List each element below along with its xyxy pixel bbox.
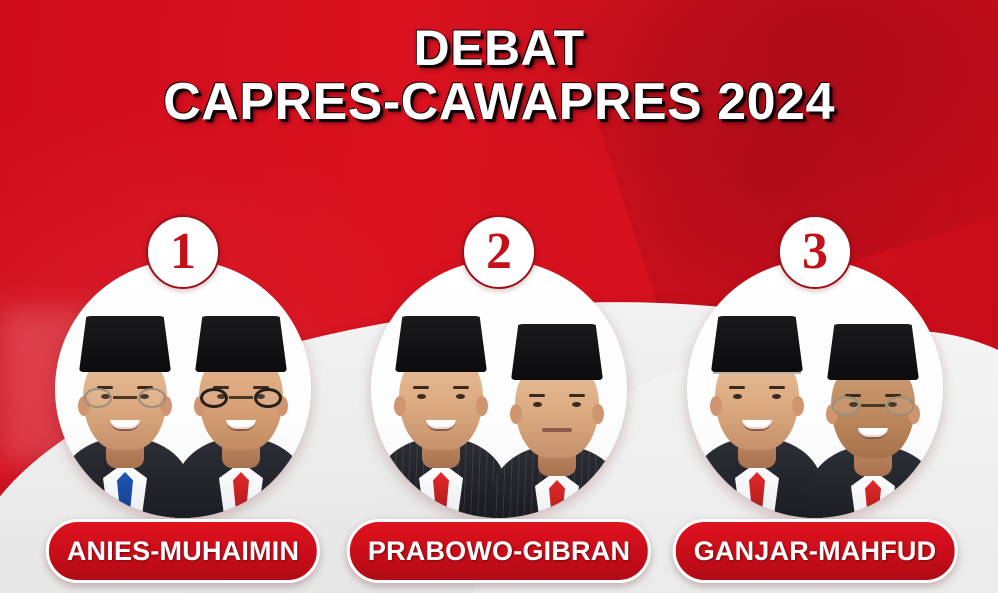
eyebrow-right	[453, 386, 469, 389]
candidate-name-pill-1[interactable]: ANIES-MUHAIMIN	[46, 519, 320, 583]
mouth	[742, 420, 772, 431]
portrait-muhaimin	[175, 314, 307, 518]
peci-cap-icon	[511, 324, 603, 380]
eyebrow-right	[769, 386, 785, 389]
candidate-number-badge-1: 1	[146, 215, 220, 289]
eye-left	[733, 394, 742, 399]
candidate-number-badge-3: 3	[778, 215, 852, 289]
eyebrow-right	[569, 394, 585, 397]
mouth	[542, 428, 572, 432]
peci-cap-icon	[395, 316, 487, 372]
portrait-ganjar	[691, 314, 823, 518]
eye-right	[456, 394, 465, 399]
candidate-name-label-2: PRABOWO-GIBRAN	[368, 536, 630, 567]
title-line-2: CAPRES-CAWAPRES 2024	[0, 75, 998, 130]
title-line-1: DEBAT	[0, 22, 998, 75]
ear-left	[510, 404, 522, 424]
eyebrow-left	[529, 394, 545, 397]
mouth	[426, 420, 456, 431]
ear-right	[792, 396, 804, 416]
page-title: DEBAT CAPRES-CAWAPRES 2024	[0, 22, 998, 130]
ear-left	[394, 396, 406, 416]
candidate-photo-2	[371, 260, 627, 518]
eye-right	[572, 402, 581, 407]
peci-cap-icon	[827, 324, 919, 380]
ear-right	[476, 396, 488, 416]
eyeglasses-icon	[84, 388, 166, 408]
portrait-gibran	[491, 322, 623, 518]
candidate-photo-3	[687, 260, 943, 518]
peci-cap-icon	[195, 316, 287, 372]
candidate-card-2[interactable]: 2 PRABOWO-GIBRAN	[349, 215, 649, 575]
candidate-number-badge-2: 2	[462, 215, 536, 289]
eyeglasses-icon	[832, 396, 914, 416]
eye-right	[772, 394, 781, 399]
portrait-anies	[59, 314, 191, 518]
ear-left	[710, 396, 722, 416]
portrait-mahfud	[807, 322, 939, 518]
eye-left	[533, 402, 542, 407]
candidate-card-3[interactable]: 3 GANJAR-MAHFUD	[665, 215, 965, 575]
candidate-name-pill-3[interactable]: GANJAR-MAHFUD	[673, 519, 958, 583]
peci-cap-icon	[711, 316, 803, 372]
candidate-card-1[interactable]: 1 ANIES-MUHAIMIN	[33, 215, 333, 575]
candidate-name-label-1: ANIES-MUHAIMIN	[67, 536, 299, 567]
candidate-list: 1 ANIES-MUHAIMIN	[0, 215, 998, 575]
mouth	[110, 420, 140, 431]
candidate-name-pill-2[interactable]: PRABOWO-GIBRAN	[347, 519, 651, 583]
peci-cap-icon	[79, 316, 171, 372]
eye-left	[417, 394, 426, 399]
eyeglasses-icon	[200, 388, 282, 408]
debate-poster: DEBAT CAPRES-CAWAPRES 2024	[0, 0, 998, 593]
candidate-photo-1	[55, 260, 311, 518]
mouth	[226, 420, 256, 431]
eyebrow-left	[413, 386, 429, 389]
candidate-name-label-3: GANJAR-MAHFUD	[694, 536, 937, 567]
ear-right	[592, 404, 604, 424]
eyebrow-left	[729, 386, 745, 389]
portrait-prabowo	[375, 314, 507, 518]
mouth	[858, 428, 888, 439]
